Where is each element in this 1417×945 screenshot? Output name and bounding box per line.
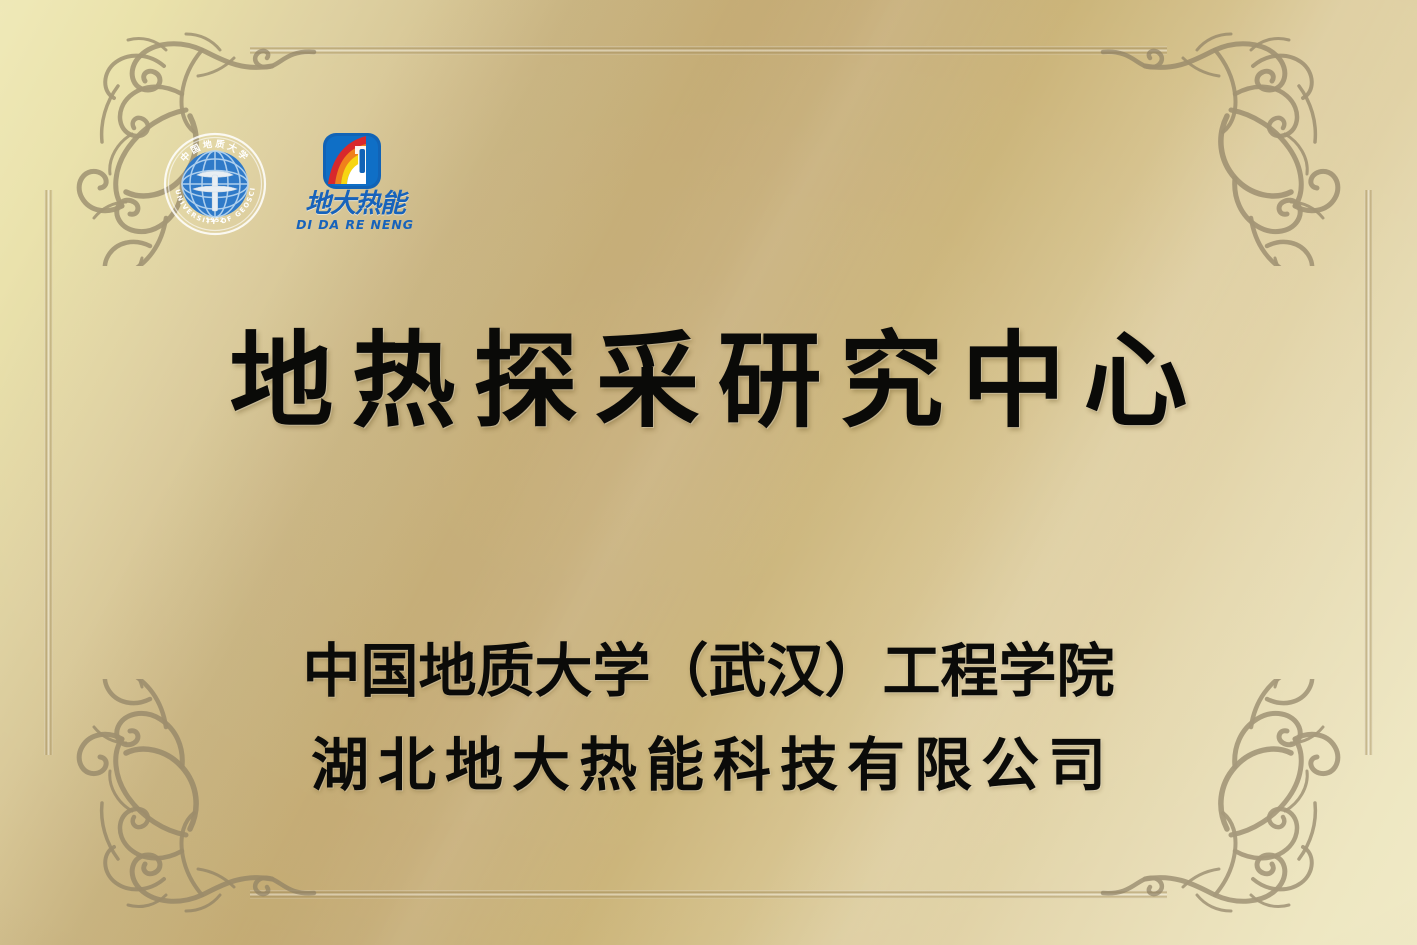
- company-name-pinyin: DI DA RE NENG: [289, 217, 421, 233]
- company-name-cn: 地大热能: [289, 191, 421, 217]
- didareneng-logo-icon: [322, 132, 382, 190]
- border-rule-bottom: [250, 890, 1167, 899]
- cug-globe-seal-icon: 中国地质大学 CHINA UNIVERSITY OF GEOSCIENCES 1…: [163, 132, 267, 236]
- logo-row: 中国地质大学 CHINA UNIVERSITY OF GEOSCIENCES 1…: [163, 132, 421, 236]
- company-logo: 地大热能 DI DA RE NENG: [289, 132, 421, 233]
- ornament-corner-top-right: [1073, 6, 1403, 266]
- organization-line-1: 中国地质大学（武汉）工程学院: [0, 625, 1417, 719]
- organization-line-2: 湖北地大热能科技有限公司: [0, 719, 1417, 813]
- award-plaque: 中国地质大学 CHINA UNIVERSITY OF GEOSCIENCES 1…: [0, 0, 1417, 945]
- organization-names: 中国地质大学（武汉）工程学院 湖北地大热能科技有限公司: [0, 625, 1417, 813]
- border-rule-top: [250, 46, 1167, 55]
- svg-text:1952: 1952: [205, 217, 224, 224]
- page-title: 地热探采研究中心: [0, 325, 1417, 437]
